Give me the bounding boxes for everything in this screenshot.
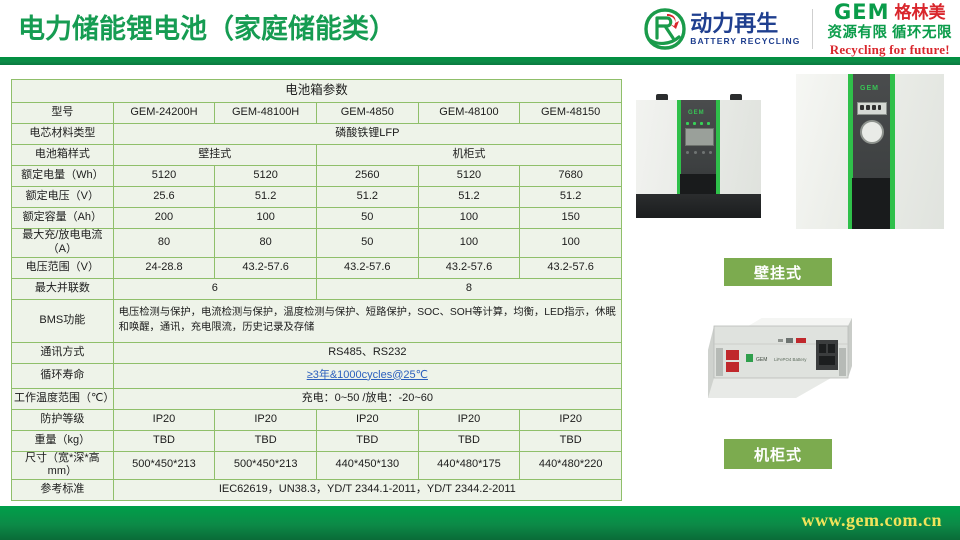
table-cell-span-right: 8 <box>316 278 621 299</box>
footer-website[interactable]: www.gem.com.cn <box>802 510 942 531</box>
table-cell: TBD <box>316 430 418 451</box>
cycle-life-link[interactable]: ≥3年&1000cycles@25℃ <box>307 369 428 381</box>
table-cell: TBD <box>113 430 215 451</box>
table-cell: 100 <box>418 229 520 258</box>
table-cell: 43.2-57.6 <box>520 257 622 278</box>
table-cell: 5120 <box>418 166 520 187</box>
table-cell-span: RS485、RS232 <box>113 342 621 363</box>
table-cell: TBD <box>215 430 317 451</box>
table-cell: 100 <box>215 208 317 229</box>
table-cell: 43.2-57.6 <box>316 257 418 278</box>
table-cell: 25.6 <box>113 187 215 208</box>
logo-gem: GEM 格林美 资源有限 循环无限 Recycling for future! <box>825 4 952 54</box>
logo-gem-slogan-en: Recycling for future! <box>830 43 950 56</box>
table-cell: 51.2 <box>215 187 317 208</box>
wall-unit-b-brand-text: GEM <box>860 85 879 92</box>
row-label: 尺寸（宽*深*高mm） <box>12 451 114 480</box>
wall-mounted-unit-b-image: GEM <box>796 74 944 229</box>
table-row: 参考标准IEC62619，UN38.3，YD/T 2344.1-2011，YD/… <box>12 480 622 501</box>
recycle-r-icon <box>643 7 687 51</box>
table-row: 电池箱样式壁挂式机柜式 <box>12 145 622 166</box>
table-cell: 100 <box>418 208 520 229</box>
table-row: 额定容量（Ah）20010050100150 <box>12 208 622 229</box>
table-row: 额定电量（Wh）51205120256051207680 <box>12 166 622 187</box>
table-cell-span: 充电：0~50 /放电：-20~60 <box>113 388 621 409</box>
model-header-cell: GEM-48100H <box>215 103 317 124</box>
table-cell: 50 <box>316 208 418 229</box>
row-label: 防护等级 <box>12 409 114 430</box>
table-cell: 150 <box>520 208 622 229</box>
wall-unit-a-brand-text: GEM <box>688 110 705 116</box>
table-row: 通讯方式RS485、RS232 <box>12 342 622 363</box>
table-row: BMS功能电压检测与保护，电流检测与保护，温度检测与保护、短路保护，SOC、SO… <box>12 299 622 342</box>
table-cell: 440*480*175 <box>418 451 520 480</box>
table-cell: 7680 <box>520 166 622 187</box>
row-label: 循环寿命 <box>12 363 114 388</box>
table-cell: 440*450*130 <box>316 451 418 480</box>
table-cell: 80 <box>215 229 317 258</box>
table-row: 重量（kg）TBDTBDTBDTBDTBD <box>12 430 622 451</box>
row-label: 额定电压（V） <box>12 187 114 208</box>
table-caption: 电池箱参数 <box>12 80 622 103</box>
rack-mounted-unit-image: GEM LiFePO4 Battery <box>700 292 855 402</box>
table-cell: 24-28.8 <box>113 257 215 278</box>
rack-mounted-tag: 机柜式 <box>724 439 832 469</box>
table-cell: 100 <box>520 229 622 258</box>
table-row: 电压范围（V）24-28.843.2-57.643.2-57.643.2-57.… <box>12 257 622 278</box>
table-cell: IP20 <box>418 409 520 430</box>
row-label: 重量（kg） <box>12 430 114 451</box>
table-row: 最大并联数68 <box>12 278 622 299</box>
table-cell-span-left: 6 <box>113 278 316 299</box>
table-cell: IP20 <box>113 409 215 430</box>
table-cell: 5120 <box>215 166 317 187</box>
table-cell: 80 <box>113 229 215 258</box>
row-label: 电芯材料类型 <box>12 124 114 145</box>
row-label: 最大充/放电电流（A） <box>12 229 114 258</box>
table-cell-span: IEC62619，UN38.3，YD/T 2344.1-2011，YD/T 23… <box>113 480 621 501</box>
wall-mounted-tag: 壁挂式 <box>724 258 832 286</box>
logo-gem-brand: GEM <box>834 2 889 23</box>
row-label: 参考标准 <box>12 480 114 501</box>
logo-dlzs-cn: 动力再生 <box>690 13 800 35</box>
row-label: 电池箱样式 <box>12 145 114 166</box>
wall-mounted-unit-a-image: GEM <box>636 94 761 219</box>
svg-text:LiFePO4 Battery: LiFePO4 Battery <box>774 357 807 362</box>
table-row: 额定电压（V）25.651.251.251.251.2 <box>12 187 622 208</box>
row-label: 额定容量（Ah） <box>12 208 114 229</box>
table-row: 工作温度范围（℃）充电：0~50 /放电：-20~60 <box>12 388 622 409</box>
logo-dlzs-en: BATTERY RECYCLING <box>690 37 800 46</box>
table-row: 型号GEM-24200HGEM-48100HGEM-4850GEM-48100G… <box>12 103 622 124</box>
logo-divider <box>812 9 813 49</box>
table-cell: 5120 <box>113 166 215 187</box>
row-label: 电压范围（V） <box>12 257 114 278</box>
row-label: 额定电量（Wh） <box>12 166 114 187</box>
row-label: 通讯方式 <box>12 342 114 363</box>
model-header-cell: GEM-4850 <box>316 103 418 124</box>
logo-dongli-zaisheng: 动力再生 BATTERY RECYCLING <box>643 4 800 54</box>
footer-bar: www.gem.com.cn <box>0 506 960 540</box>
model-header-cell: GEM-48150 <box>520 103 622 124</box>
logo-gem-slogan-cn: 资源有限 循环无限 <box>827 26 952 41</box>
title-underline-rule <box>0 57 960 65</box>
table-cell: 51.2 <box>520 187 622 208</box>
table-caption-row: 电池箱参数 <box>12 80 622 103</box>
logo-group: 动力再生 BATTERY RECYCLING GEM 格林美 资源有限 循环无限… <box>643 3 952 55</box>
table-cell-span-right: 机柜式 <box>316 145 621 166</box>
page-title: 电力储能锂电池（家庭储能类） <box>18 10 396 48</box>
row-label: BMS功能 <box>12 299 114 342</box>
table-cell: IP20 <box>520 409 622 430</box>
table-cell: TBD <box>418 430 520 451</box>
table-cell: 500*450*213 <box>215 451 317 480</box>
table-cell: 51.2 <box>316 187 418 208</box>
logo-gem-brand-cn: 格林美 <box>894 4 945 21</box>
svg-text:GEM: GEM <box>756 357 767 363</box>
table-cell: IP20 <box>316 409 418 430</box>
table-cell: TBD <box>520 430 622 451</box>
row-label: 型号 <box>12 103 114 124</box>
cycle-life-cell: ≥3年&1000cycles@25℃ <box>113 363 621 388</box>
table-cell-span-left: 壁挂式 <box>113 145 316 166</box>
table-row: 循环寿命≥3年&1000cycles@25℃ <box>12 363 622 388</box>
table-row: 电芯材料类型磷酸铁锂LFP <box>12 124 622 145</box>
row-label: 工作温度范围（℃） <box>12 388 114 409</box>
table-row: 防护等级IP20IP20IP20IP20IP20 <box>12 409 622 430</box>
table-cell: 2560 <box>316 166 418 187</box>
table-row: 尺寸（宽*深*高mm）500*450*213500*450*213440*450… <box>12 451 622 480</box>
table-cell: 200 <box>113 208 215 229</box>
table-cell: 51.2 <box>418 187 520 208</box>
model-header-cell: GEM-48100 <box>418 103 520 124</box>
table-cell: 43.2-57.6 <box>215 257 317 278</box>
row-label: 最大并联数 <box>12 278 114 299</box>
table-cell: IP20 <box>215 409 317 430</box>
bms-function-cell: 电压检测与保护，电流检测与保护，温度检测与保护、短路保护，SOC、SOH等计算，… <box>113 299 621 342</box>
table-cell: 50 <box>316 229 418 258</box>
table-cell-span: 磷酸铁锂LFP <box>113 124 621 145</box>
table-cell: 43.2-57.6 <box>418 257 520 278</box>
model-header-cell: GEM-24200H <box>113 103 215 124</box>
table-cell: 440*480*220 <box>520 451 622 480</box>
battery-spec-table: 电池箱参数型号GEM-24200HGEM-48100HGEM-4850GEM-4… <box>11 79 622 501</box>
table-row: 最大充/放电电流（A）808050100100 <box>12 229 622 258</box>
page-header: 电力储能锂电池（家庭储能类） 动力再生 BATTERY RECYCLING GE… <box>0 0 960 58</box>
table-cell: 500*450*213 <box>113 451 215 480</box>
product-image-panel: GEM GEM 壁挂式 <box>632 72 952 497</box>
